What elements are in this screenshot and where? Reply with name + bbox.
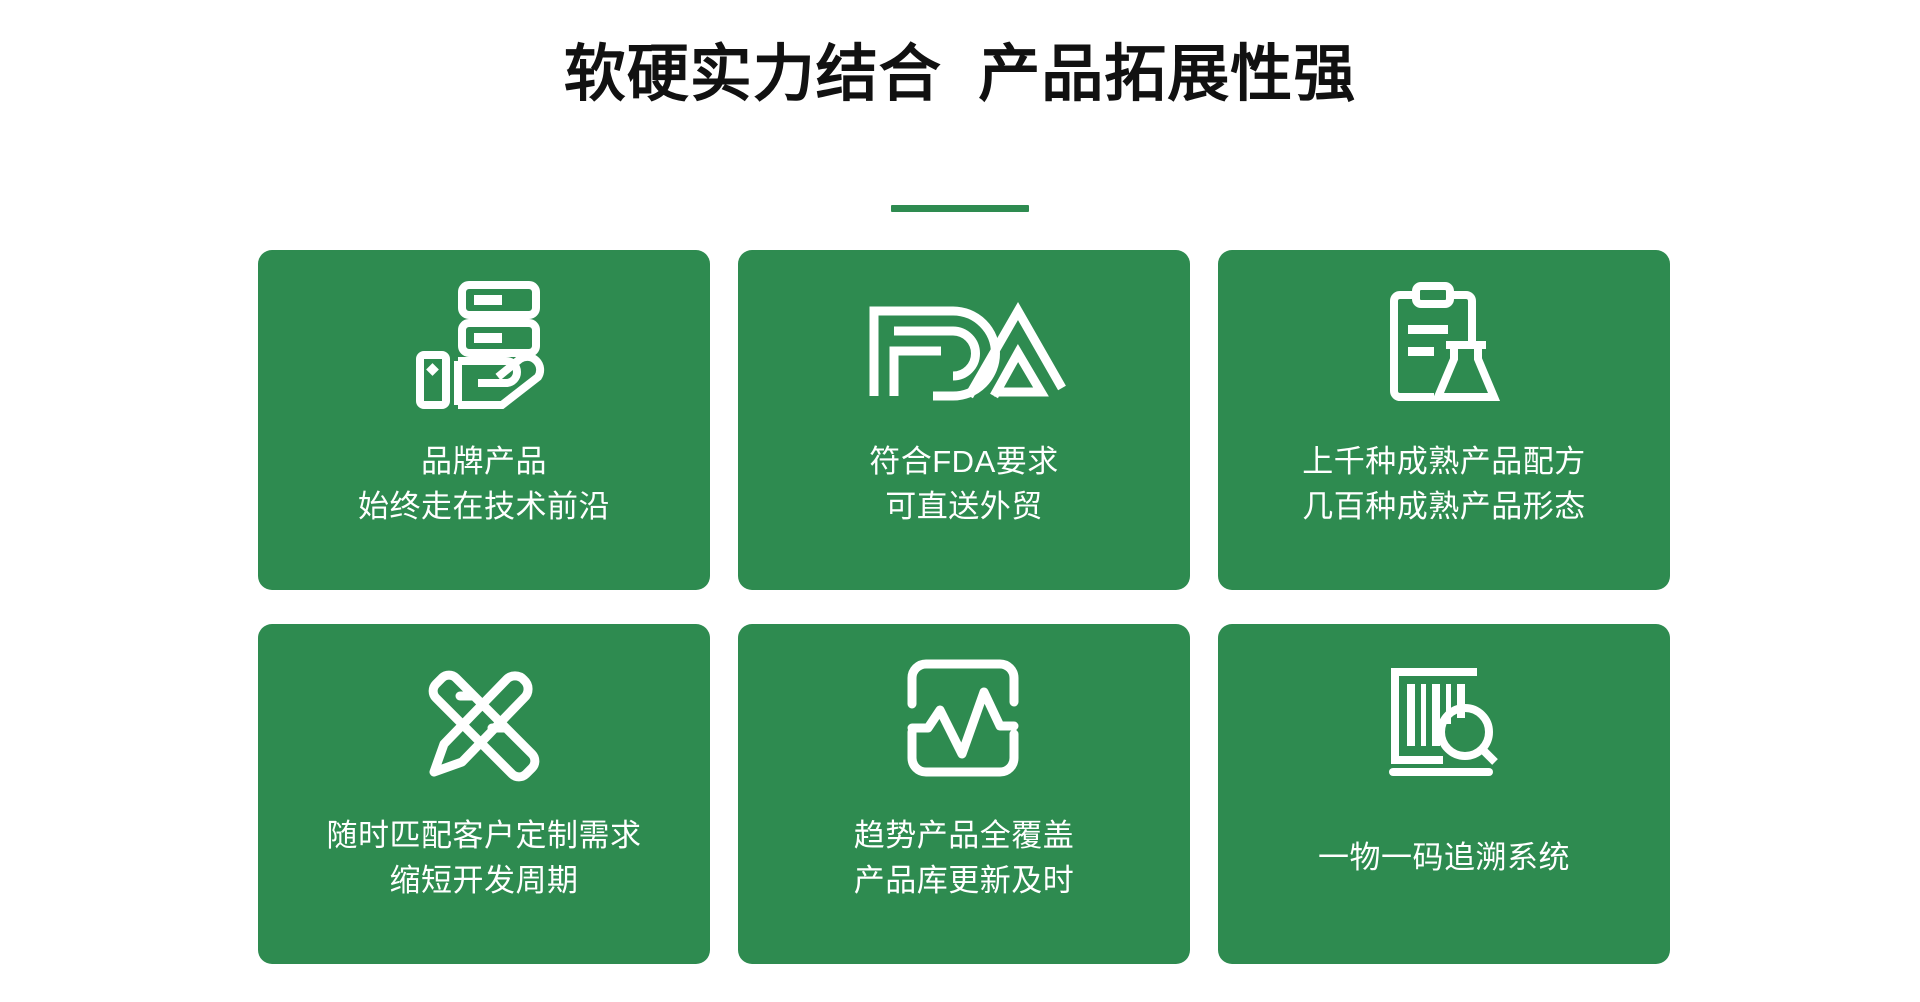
title-divider <box>891 205 1029 212</box>
feature-card-brand-product[interactable]: 品牌产品 始终走在技术前沿 <box>258 250 710 590</box>
feature-line-2: 几百种成熟产品形态 <box>1228 485 1660 530</box>
feature-line-2: 缩短开发周期 <box>268 859 700 904</box>
feature-card-text: 上千种成熟产品配方 几百种成熟产品形态 <box>1218 440 1670 530</box>
clipboard-flask-icon <box>1218 250 1670 440</box>
feature-line-2: 可直送外贸 <box>748 485 1180 530</box>
feature-card-grid: 品牌产品 始终走在技术前沿 <box>258 250 1670 964</box>
fda-logo-icon <box>738 250 1190 440</box>
hand-holding-boxes-icon <box>258 250 710 440</box>
feature-card-trend[interactable]: 趋势产品全覆盖 产品库更新及时 <box>738 624 1190 964</box>
feature-card-text: 符合FDA要求 可直送外贸 <box>738 440 1190 530</box>
feature-line-1: 上千种成熟产品配方 <box>1302 444 1586 479</box>
feature-card-traceability[interactable]: 一物一码追溯系统 <box>1218 624 1670 964</box>
feature-line-2: 始终走在技术前沿 <box>268 485 700 530</box>
feature-card-text: 趋势产品全覆盖 产品库更新及时 <box>738 814 1190 904</box>
feature-card-customization[interactable]: 随时匹配客户定制需求 缩短开发周期 <box>258 624 710 964</box>
feature-line-1: 随时匹配客户定制需求 <box>327 818 642 853</box>
page-title: 软硬实力结合 产品拓展性强 <box>0 36 1920 114</box>
feature-card-fda[interactable]: 符合FDA要求 可直送外贸 <box>738 250 1190 590</box>
pen-ruler-cross-icon <box>258 624 710 814</box>
feature-card-text: 随时匹配客户定制需求 缩短开发周期 <box>258 814 710 904</box>
trend-chart-frame-icon <box>738 624 1190 814</box>
feature-card-text: 品牌产品 始终走在技术前沿 <box>258 440 710 530</box>
barcode-search-icon <box>1218 624 1670 814</box>
feature-line-1: 一物一码追溯系统 <box>1318 840 1570 875</box>
feature-line-2: 产品库更新及时 <box>748 859 1180 904</box>
promo-page: 软硬实力结合 产品拓展性强 品牌产品 始终走在技术前 <box>0 0 1920 1002</box>
feature-line-1: 符合FDA要求 <box>869 444 1059 479</box>
feature-card-text: 一物一码追溯系统 <box>1218 836 1670 881</box>
feature-card-formulas[interactable]: 上千种成熟产品配方 几百种成熟产品形态 <box>1218 250 1670 590</box>
feature-line-1: 趋势产品全覆盖 <box>854 818 1075 853</box>
feature-line-1: 品牌产品 <box>421 444 547 479</box>
